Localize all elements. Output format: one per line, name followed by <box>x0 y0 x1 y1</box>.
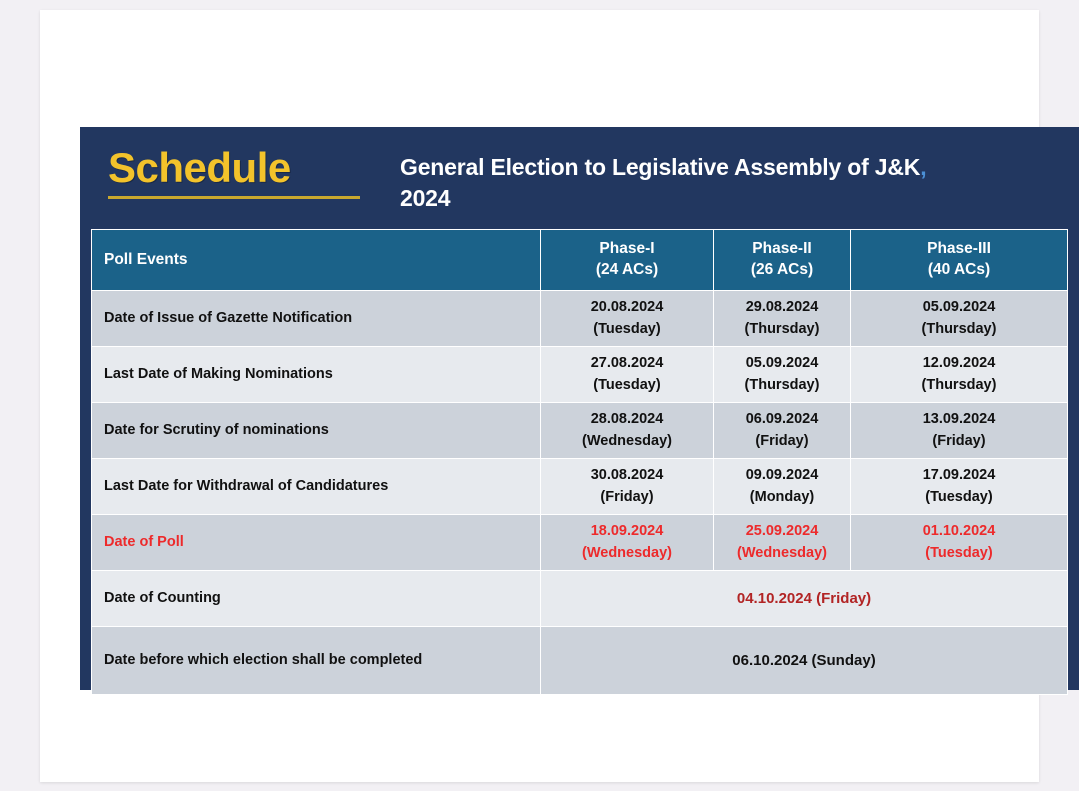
table-body: Date of Issue of Gazette Notification 20… <box>92 291 1068 695</box>
day-value: (Thursday) <box>857 375 1061 396</box>
day-value: (Wednesday) <box>720 543 844 564</box>
column-header-phase-2: Phase-II (26 ACs) <box>714 230 851 291</box>
day-value: (Wednesday) <box>547 543 707 564</box>
phase-2-cell: 06.09.2024 (Friday) <box>714 403 851 459</box>
day-value: (Thursday) <box>720 319 844 340</box>
day-value: (Friday) <box>547 487 707 508</box>
document-card: Schedule General Election to Legislative… <box>40 10 1039 782</box>
phase-2-cell: 29.08.2024 (Thursday) <box>714 291 851 347</box>
phase-3-cell: 01.10.2024 (Tuesday) <box>851 515 1068 571</box>
phase-2-cell: 09.09.2024 (Monday) <box>714 459 851 515</box>
schedule-badge-label: Schedule <box>108 147 360 189</box>
date-value: 28.08.2024 <box>547 409 707 430</box>
page-title: General Election to Legislative Assembly… <box>400 152 1055 214</box>
event-label: Last Date for Withdrawal of Candidatures <box>92 459 541 515</box>
column-header-phase-1: Phase-I (24 ACs) <box>541 230 714 291</box>
phase-2-sublabel: (26 ACs) <box>722 260 842 281</box>
phase-3-label: Phase-III <box>859 239 1059 260</box>
schedule-table: Poll Events Phase-I (24 ACs) Phase-II (2… <box>91 229 1068 695</box>
day-value: (Friday) <box>720 431 844 452</box>
table-row: Date for Scrutiny of nominations 28.08.2… <box>92 403 1068 459</box>
event-label: Date before which election shall be comp… <box>92 627 541 695</box>
phase-3-cell: 12.09.2024 (Thursday) <box>851 347 1068 403</box>
schedule-underline <box>108 196 360 199</box>
phase-1-cell: 28.08.2024 (Wednesday) <box>541 403 714 459</box>
date-value: 01.10.2024 <box>857 521 1061 542</box>
page-title-comma: , <box>920 154 926 180</box>
table-row-date-of-poll: Date of Poll 18.09.2024 (Wednesday) 25.0… <box>92 515 1068 571</box>
day-value: (Thursday) <box>720 375 844 396</box>
table-header-row: Poll Events Phase-I (24 ACs) Phase-II (2… <box>92 230 1068 291</box>
table-row: Date of Issue of Gazette Notification 20… <box>92 291 1068 347</box>
schedule-panel: Schedule General Election to Legislative… <box>80 127 1079 690</box>
table-row: Last Date of Making Nominations 27.08.20… <box>92 347 1068 403</box>
date-value: 30.08.2024 <box>547 465 707 486</box>
event-label: Date of Poll <box>92 515 541 571</box>
table-row-date-of-counting: Date of Counting 04.10.2024 (Friday) <box>92 571 1068 627</box>
date-value: 06.09.2024 <box>720 409 844 430</box>
page-root: Schedule General Election to Legislative… <box>0 0 1079 791</box>
phase-2-label: Phase-II <box>722 239 842 260</box>
completion-date-value: 06.10.2024 (Sunday) <box>541 627 1068 695</box>
date-value: 29.08.2024 <box>720 297 844 318</box>
day-value: (Tuesday) <box>547 375 707 396</box>
phase-1-cell: 18.09.2024 (Wednesday) <box>541 515 714 571</box>
day-value: (Monday) <box>720 487 844 508</box>
date-value: 05.09.2024 <box>720 353 844 374</box>
phase-3-cell: 05.09.2024 (Thursday) <box>851 291 1068 347</box>
phase-1-cell: 27.08.2024 (Tuesday) <box>541 347 714 403</box>
table-row: Last Date for Withdrawal of Candidatures… <box>92 459 1068 515</box>
date-value: 27.08.2024 <box>547 353 707 374</box>
column-header-phase-3: Phase-III (40 ACs) <box>851 230 1068 291</box>
day-value: (Thursday) <box>857 319 1061 340</box>
date-value: 09.09.2024 <box>720 465 844 486</box>
date-value: 13.09.2024 <box>857 409 1061 430</box>
table-head: Poll Events Phase-I (24 ACs) Phase-II (2… <box>92 230 1068 291</box>
day-value: (Tuesday) <box>857 487 1061 508</box>
event-label: Last Date of Making Nominations <box>92 347 541 403</box>
page-title-main: General Election to Legislative Assembly… <box>400 154 920 180</box>
phase-2-cell: 05.09.2024 (Thursday) <box>714 347 851 403</box>
date-value: 20.08.2024 <box>547 297 707 318</box>
event-label: Date of Counting <box>92 571 541 627</box>
phase-1-sublabel: (24 ACs) <box>549 260 705 281</box>
date-value: 17.09.2024 <box>857 465 1061 486</box>
page-title-year: 2024 <box>400 185 450 211</box>
phase-1-cell: 30.08.2024 (Friday) <box>541 459 714 515</box>
phase-1-label: Phase-I <box>549 239 705 260</box>
panel-title-wrap: General Election to Legislative Assembly… <box>360 143 1055 214</box>
event-label: Date of Issue of Gazette Notification <box>92 291 541 347</box>
phase-1-cell: 20.08.2024 (Tuesday) <box>541 291 714 347</box>
phase-3-sublabel: (40 ACs) <box>859 260 1059 281</box>
table-row-completion-date: Date before which election shall be comp… <box>92 627 1068 695</box>
phase-2-cell: 25.09.2024 (Wednesday) <box>714 515 851 571</box>
panel-header: Schedule General Election to Legislative… <box>80 127 1079 229</box>
date-value: 18.09.2024 <box>547 521 707 542</box>
date-value: 12.09.2024 <box>857 353 1061 374</box>
column-header-poll-events: Poll Events <box>92 230 541 291</box>
day-value: (Tuesday) <box>547 319 707 340</box>
day-value: (Friday) <box>857 431 1061 452</box>
date-value: 05.09.2024 <box>857 297 1061 318</box>
event-label: Date for Scrutiny of nominations <box>92 403 541 459</box>
day-value: (Wednesday) <box>547 431 707 452</box>
phase-3-cell: 17.09.2024 (Tuesday) <box>851 459 1068 515</box>
counting-date-value: 04.10.2024 (Friday) <box>541 571 1068 627</box>
schedule-badge: Schedule <box>108 143 360 199</box>
day-value: (Tuesday) <box>857 543 1061 564</box>
date-value: 25.09.2024 <box>720 521 844 542</box>
phase-3-cell: 13.09.2024 (Friday) <box>851 403 1068 459</box>
